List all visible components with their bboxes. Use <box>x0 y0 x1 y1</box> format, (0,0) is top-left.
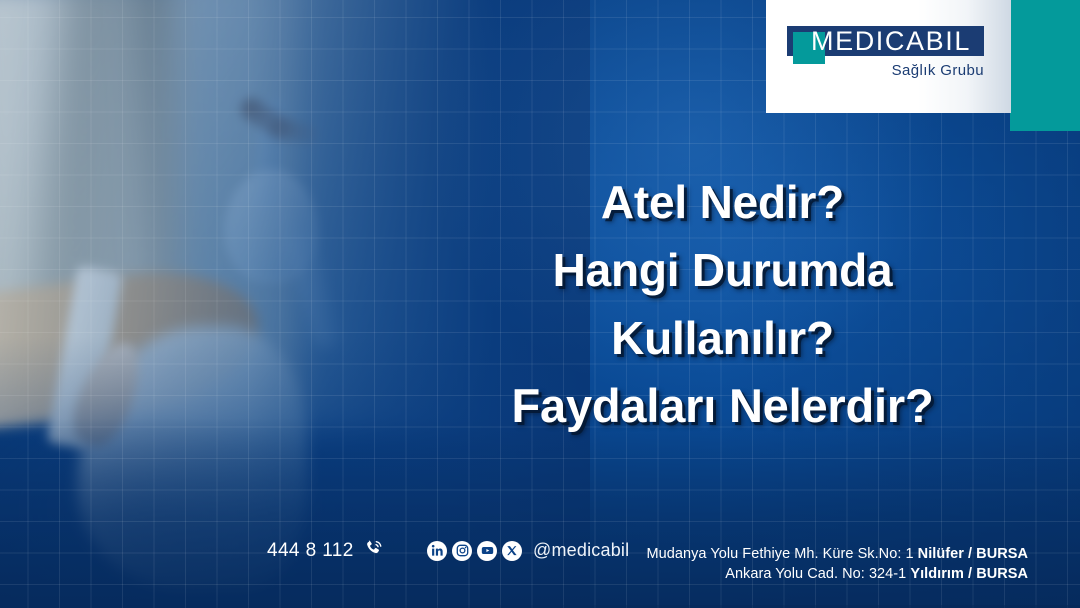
social-handle: @medicabil <box>533 540 629 561</box>
address-block: Mudanya Yolu Fethiye Mh. Küre Sk.No: 1 N… <box>647 544 1028 584</box>
address-line-2: Ankara Yolu Cad. No: 324-1 Yıldırım / BU… <box>647 564 1028 584</box>
teal-accent-block <box>1010 0 1080 131</box>
address-line-2-city: Yıldırım / BURSA <box>910 566 1028 582</box>
headline-line-1: Atel Nedir? <box>410 168 1035 236</box>
phone-contact[interactable]: 444 8 112 <box>267 538 384 564</box>
x-twitter-icon[interactable] <box>502 541 522 561</box>
instagram-icon[interactable] <box>452 541 472 561</box>
address-line-2-text: Ankara Yolu Cad. No: 324-1 <box>725 566 910 582</box>
brand-logo-panel[interactable]: MEDICABIL Sağlık Grubu <box>766 0 1011 113</box>
address-line-1: Mudanya Yolu Fethiye Mh. Küre Sk.No: 1 N… <box>647 544 1028 564</box>
poster-canvas: MEDICABIL Sağlık Grubu Atel Nedir? Hangi… <box>0 0 1080 608</box>
youtube-icon[interactable] <box>477 541 497 561</box>
headline-line-4: Faydaları Nelerdir? <box>410 372 1035 440</box>
linkedin-icon[interactable] <box>427 541 447 561</box>
logo-wordmark: MEDICABIL <box>811 27 971 56</box>
footer-bar: 444 8 112 <box>0 512 1080 608</box>
address-line-1-city: Nilüfer / BURSA <box>918 546 1028 562</box>
headline-line-2: Hangi Durumda <box>410 236 1035 304</box>
headline: Atel Nedir? Hangi Durumda Kullanılır? Fa… <box>410 168 1035 440</box>
logo-tagline: Sağlık Grubu <box>766 62 984 79</box>
phone-number: 444 8 112 <box>267 540 354 562</box>
headline-line-3: Kullanılır? <box>410 304 1035 372</box>
address-line-1-text: Mudanya Yolu Fethiye Mh. Küre Sk.No: 1 <box>647 546 918 562</box>
social-links[interactable]: @medicabil <box>427 540 629 561</box>
phone-call-icon <box>363 538 384 564</box>
